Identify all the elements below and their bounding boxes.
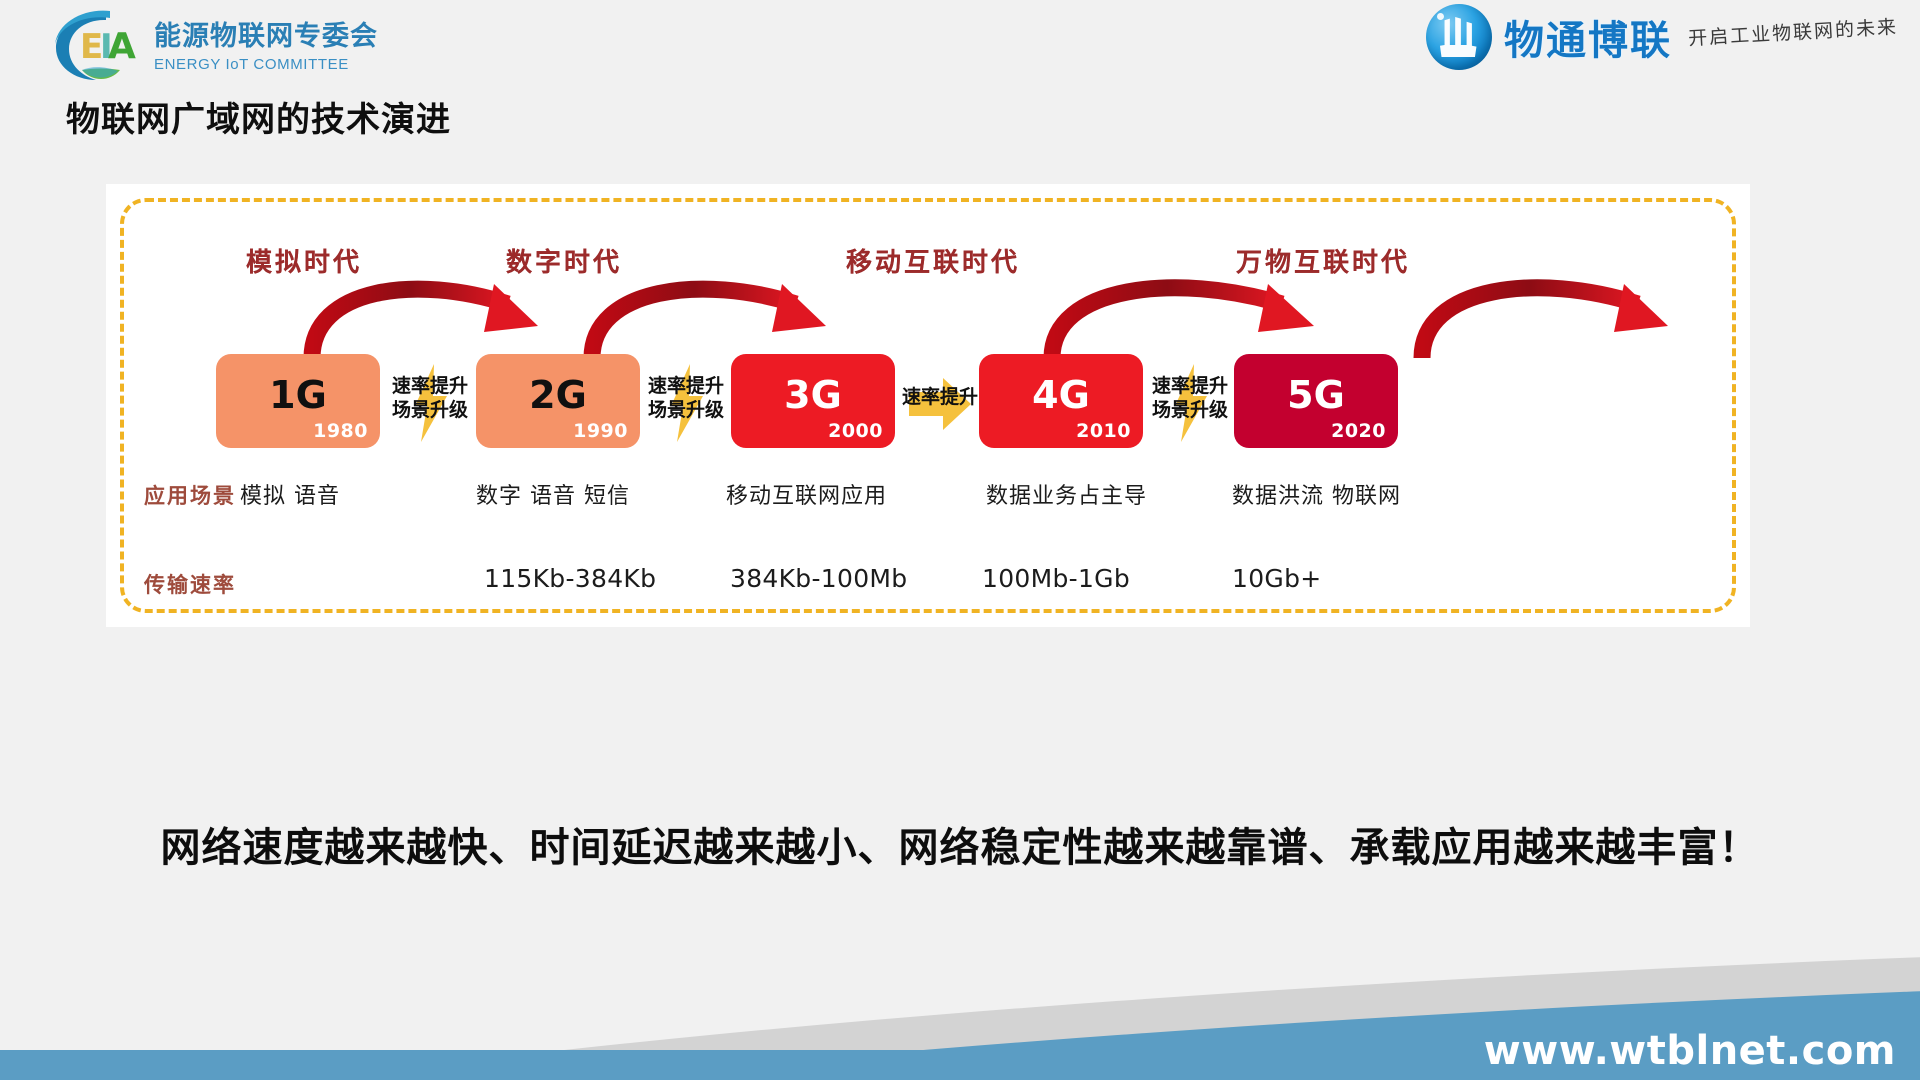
connector-line2: 场景升级 — [1142, 399, 1238, 423]
ceia-cn-name: 能源物联网专委会 — [154, 23, 378, 50]
connector-text-3g-4g: 速率提升 — [892, 386, 988, 410]
generation-box-4g[interactable]: 4G 2010 — [979, 354, 1143, 448]
connector-text-4g-5g: 速率提升 场景升级 — [1142, 375, 1238, 423]
arc-arrow-1g-2g — [296, 270, 556, 360]
connector-1g-2g: 速率提升 场景升级 — [382, 362, 478, 444]
connector-line1: 速率提升 — [638, 375, 734, 399]
rate-4g: 100Mb-1Gb — [982, 564, 1130, 593]
sail-shape — [1440, 17, 1478, 57]
scenario-2g: 数字 语音 短信 — [476, 478, 630, 510]
generation-label-1g: 1G — [216, 376, 380, 414]
scenario-5g: 数据洪流 物联网 — [1232, 478, 1401, 510]
connector-line1: 速率提升 — [382, 375, 478, 399]
generation-label-2g: 2G — [476, 376, 640, 414]
era-label-mobile: 移动互联时代 — [846, 242, 1020, 279]
generation-label-4g: 4G — [979, 376, 1143, 414]
scenario-4g: 数据业务占主导 — [986, 478, 1147, 510]
generation-box-2g[interactable]: 2G 1990 — [476, 354, 640, 448]
connector-line1: 速率提升 — [1142, 375, 1238, 399]
arc-arrow-2g-3g — [576, 270, 846, 360]
summary-text: 网络速度越来越快、时间延迟越来越小、网络稳定性越来越靠谱、承载应用越来越丰富！ — [0, 815, 1920, 873]
page-title: 物联网广域网的技术演进 — [66, 92, 451, 141]
generation-year-2g: 1990 — [573, 420, 628, 442]
arc-arrow-4g-5g — [1406, 270, 1686, 360]
generation-label-3g: 3G — [731, 376, 895, 414]
ceia-crescent-logo-icon: E I A — [48, 8, 140, 86]
connector-3g-4g: 速率提升 — [892, 362, 988, 444]
svg-text:A: A — [108, 26, 136, 67]
generation-label-5g: 5G — [1234, 376, 1398, 414]
connector-4g-5g: 速率提升 场景升级 — [1142, 362, 1238, 444]
wtbl-slogan: 开启工业物联网的未来 — [1687, 12, 1898, 51]
generation-year-3g: 2000 — [828, 420, 883, 442]
wtbl-logo: 物通博联 开启工业物联网的未来 — [1426, 4, 1898, 70]
generation-box-3g[interactable]: 3G 2000 — [731, 354, 895, 448]
rate-2g: 115Kb-384Kb — [484, 564, 656, 593]
generation-year-4g: 2010 — [1076, 420, 1131, 442]
slide-root: E I A 能源物联网专委会 ENERGY IoT COMMITTEE 物通博联… — [0, 0, 1920, 1080]
ceia-logo-text: 能源物联网专委会 ENERGY IoT COMMITTEE — [154, 23, 378, 72]
scenario-1g: 模拟 语音 — [240, 478, 340, 510]
generation-year-5g: 2020 — [1331, 420, 1386, 442]
wtbl-sail-orb-logo-icon — [1426, 4, 1492, 70]
glint-shape — [1437, 13, 1444, 20]
wtbl-brand-name: 物通博联 — [1504, 8, 1672, 66]
connector-line2: 场景升级 — [382, 399, 478, 423]
rate-3g: 384Kb-100Mb — [730, 564, 907, 593]
rate-5g: 10Gb+ — [1232, 564, 1322, 593]
ceia-en-name: ENERGY IoT COMMITTEE — [154, 57, 378, 72]
arc-arrow-3g-4g — [1036, 270, 1336, 360]
connector-line1: 速率提升 — [892, 386, 988, 410]
connector-line2: 场景升级 — [638, 399, 734, 423]
connector-2g-3g: 速率提升 场景升级 — [638, 362, 734, 444]
generation-year-1g: 1980 — [313, 420, 368, 442]
timeline: 模拟时代 数字时代 移动互联时代 万物互联时代 — [106, 184, 1750, 627]
row-label-rate: 传输速率 — [144, 569, 236, 599]
generation-box-5g[interactable]: 5G 2020 — [1234, 354, 1398, 448]
footer: www.wtblnet.com — [0, 930, 1920, 1080]
connector-text-2g-3g: 速率提升 场景升级 — [638, 375, 734, 423]
connector-text-1g-2g: 速率提升 场景升级 — [382, 375, 478, 423]
scenario-3g: 移动互联网应用 — [726, 478, 887, 510]
generation-box-1g[interactable]: 1G 1980 — [216, 354, 380, 448]
ceia-logo: E I A 能源物联网专委会 ENERGY IoT COMMITTEE — [48, 8, 378, 86]
footer-url[interactable]: www.wtblnet.com — [1484, 1028, 1896, 1074]
row-label-scenario: 应用场景 — [144, 480, 236, 510]
